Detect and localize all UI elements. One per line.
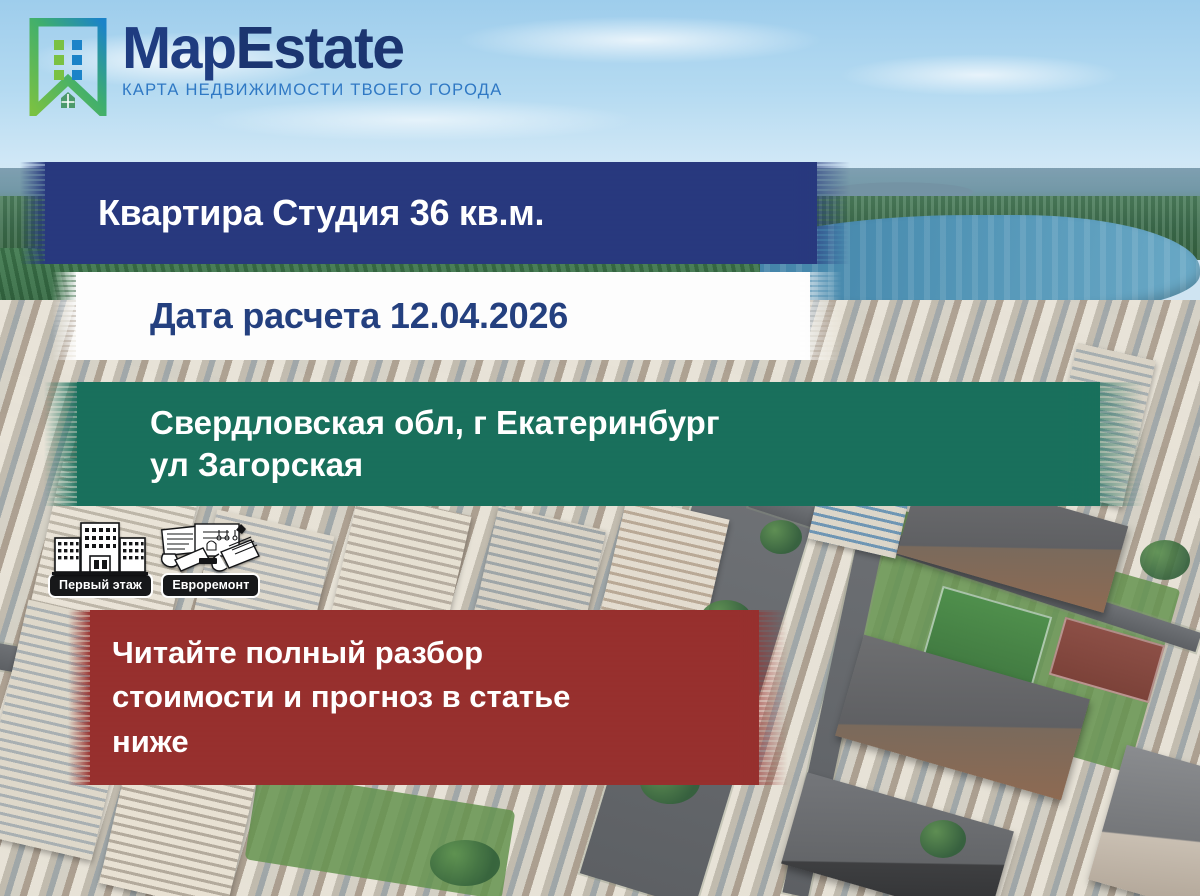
- apartment-building-icon: [52, 518, 148, 576]
- property-title-text: Квартира Студия 36 кв.м.: [98, 192, 544, 234]
- tree-cluster: [1140, 540, 1190, 580]
- brand-logo[interactable]: MapEstate КАРТА НЕДВИЖИМОСТИ ТВОЕГО ГОРО…: [28, 18, 502, 116]
- badge-first-floor-label: Первый этаж: [48, 573, 153, 598]
- badge-first-floor[interactable]: Первый этаж: [48, 518, 153, 598]
- calculation-date-band: Дата расчета 12.04.2026: [52, 272, 842, 360]
- badge-euro-renovation[interactable]: Евроремонт: [159, 518, 263, 598]
- address-band: Свердловская обл, г Екатеринбург ул Заго…: [44, 382, 1144, 506]
- house-window-glyph: [61, 92, 75, 108]
- address-line-region: Свердловская обл, г Екатеринбург: [150, 402, 720, 444]
- cta-line-2: стоимости и прогноз в статье: [112, 675, 570, 719]
- tree-cluster: [760, 520, 802, 554]
- brand-name: MapEstate: [122, 20, 502, 76]
- address-text: Свердловская обл, г Екатеринбург ул Заго…: [150, 402, 720, 486]
- brand-name-estate: Estate: [236, 15, 404, 81]
- renovation-tools-icon: [159, 518, 263, 576]
- cta-text: Читайте полный разбор стоимости и прогно…: [112, 631, 570, 763]
- cta-band: Читайте полный разбор стоимости и прогно…: [68, 610, 788, 785]
- property-promo-poster: MapEstate КАРТА НЕДВИЖИМОСТИ ТВОЕГО ГОРО…: [0, 0, 1200, 896]
- brand-tagline: КАРТА НЕДВИЖИМОСТИ ТВОЕГО ГОРОДА: [122, 81, 502, 100]
- cta-line-1: Читайте полный разбор: [112, 631, 570, 675]
- address-line-street: ул Загорская: [150, 444, 720, 486]
- tree-cluster: [920, 820, 966, 858]
- bookmark-building-icon: [28, 18, 108, 116]
- property-title-band: Квартира Студия 36 кв.м.: [20, 162, 850, 264]
- brand-name-map: Map: [122, 15, 236, 81]
- feature-badges: Первый этаж: [48, 518, 263, 598]
- calculation-date-text: Дата расчета 12.04.2026: [150, 295, 568, 337]
- tree-cluster: [430, 840, 500, 886]
- cta-line-3: ниже: [112, 720, 570, 764]
- badge-euro-renovation-label: Евроремонт: [161, 573, 260, 598]
